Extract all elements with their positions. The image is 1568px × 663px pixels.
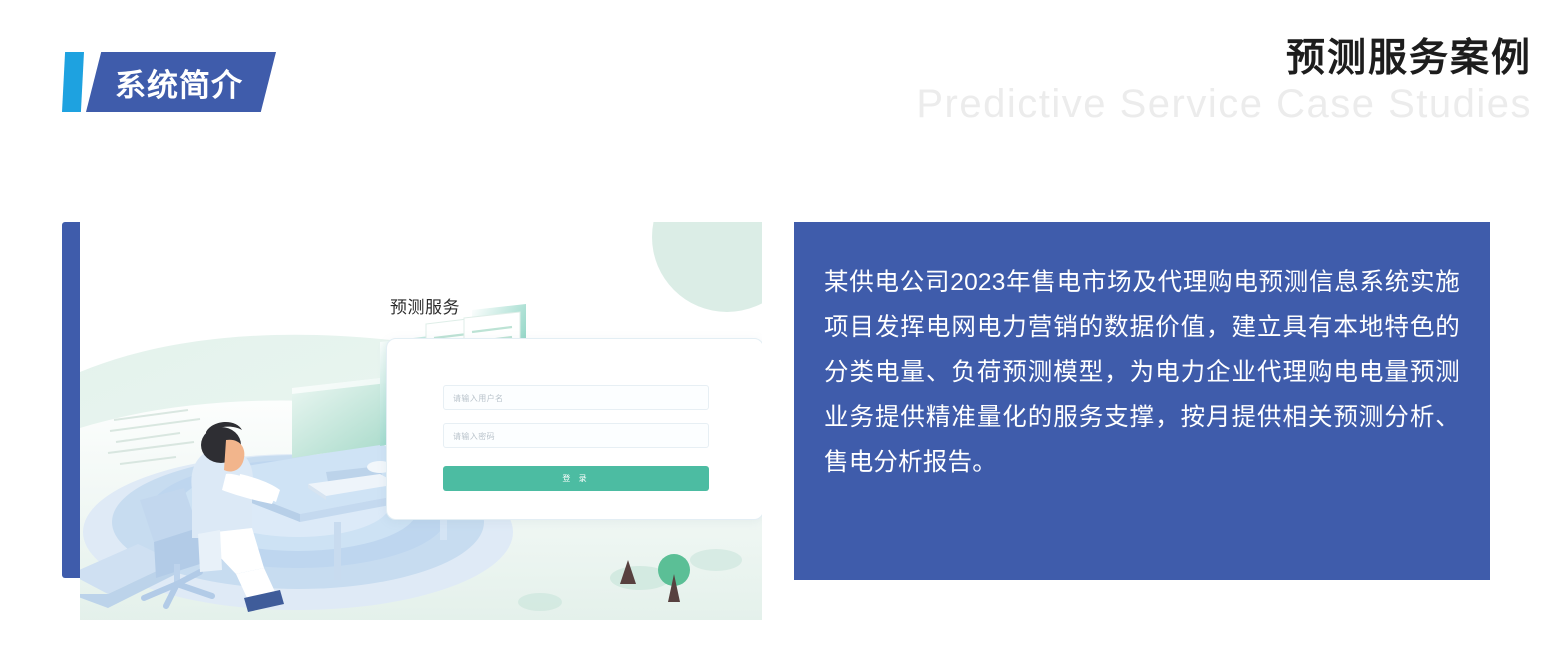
illustration-left-bar	[62, 222, 80, 578]
page-subtitle: Predictive Service Case Studies	[916, 82, 1532, 127]
description-panel: 某供电公司2023年售电市场及代理购电预测信息系统实施项目发挥电网电力营销的数据…	[794, 222, 1490, 580]
login-submit-button[interactable]: 登 录	[443, 466, 709, 491]
banner-plate: 系统简介	[86, 52, 276, 112]
page-heading: 预测服务案例 Predictive Service Case Studies	[916, 38, 1532, 127]
banner-label: 系统简介	[115, 60, 243, 105]
illustration-card: 预测服务 请输入用户名 请输入密码 登 录	[62, 222, 762, 620]
username-input[interactable]: 请输入用户名	[443, 385, 709, 410]
page-title: 预测服务案例	[916, 38, 1532, 80]
login-mock-panel: 预测服务 请输入用户名 请输入密码 登 录	[386, 293, 762, 536]
description-text: 某供电公司2023年售电市场及代理购电预测信息系统实施项目发挥电网电力营销的数据…	[824, 260, 1460, 485]
login-mock-heading: 预测服务	[390, 293, 460, 318]
login-mock-card: 请输入用户名 请输入密码 登 录	[386, 338, 762, 520]
banner-accent-bar	[62, 52, 84, 112]
password-input[interactable]: 请输入密码	[443, 423, 709, 448]
